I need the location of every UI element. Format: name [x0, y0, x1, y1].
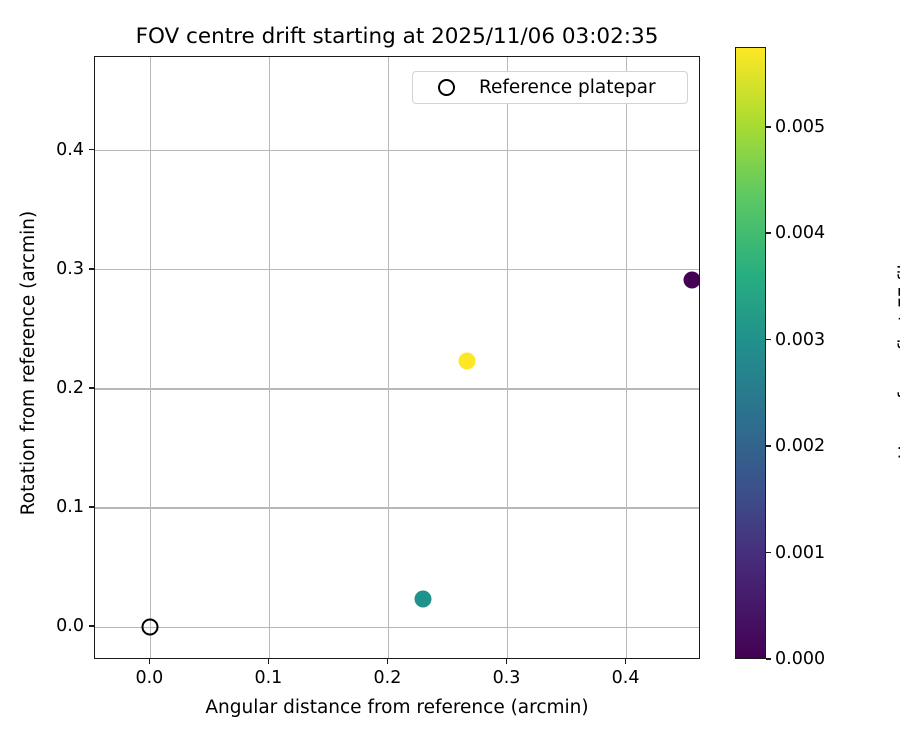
- colorbar-label: Hours from first FF file: [896, 50, 900, 662]
- gridline-horizontal: [95, 150, 699, 151]
- y-tick: [89, 387, 94, 389]
- data-point: [684, 272, 699, 289]
- colorbar-tick-label: 0.003: [775, 330, 825, 350]
- colorbar-tick: [766, 339, 771, 341]
- x-tick: [506, 659, 508, 664]
- x-tick: [625, 659, 627, 664]
- colorbar[interactable]: [735, 47, 766, 659]
- x-tick-label: 0.1: [233, 668, 303, 688]
- gridline-vertical: [507, 57, 508, 658]
- x-tick: [268, 659, 270, 664]
- gridline-vertical: [388, 57, 389, 658]
- data-point: [459, 353, 476, 370]
- open-circle-icon: [438, 79, 455, 96]
- page-title: FOV centre drift starting at 2025/11/06 …: [94, 24, 700, 49]
- colorbar-tick-label: 0.002: [775, 436, 825, 456]
- reference-platepar-marker: [142, 619, 159, 636]
- gridline-horizontal: [95, 627, 699, 628]
- x-tick-label: 0.2: [352, 668, 422, 688]
- gridline-horizontal: [95, 269, 699, 270]
- y-tick: [89, 149, 94, 151]
- x-tick: [387, 659, 389, 664]
- plot-inner: [95, 57, 699, 658]
- x-tick: [149, 659, 151, 664]
- colorbar-tick: [766, 232, 771, 234]
- colorbar-tick: [766, 552, 771, 554]
- colorbar-tick-label: 0.001: [775, 543, 825, 563]
- figure-canvas: FOV centre drift starting at 2025/11/06 …: [0, 0, 900, 750]
- y-tick: [89, 625, 94, 627]
- data-point: [415, 590, 432, 607]
- gridline-vertical: [269, 57, 270, 658]
- y-tick: [89, 506, 94, 508]
- y-axis-label: Rotation from reference (arcmin): [18, 60, 40, 666]
- x-tick-label: 0.4: [591, 668, 661, 688]
- colorbar-tick-label: 0.004: [775, 223, 825, 243]
- legend-box[interactable]: Reference platepar: [412, 71, 688, 104]
- x-tick-label: 0.0: [114, 668, 184, 688]
- colorbar-tick: [766, 445, 771, 447]
- colorbar-tick-label: 0.005: [775, 117, 825, 137]
- legend-label-reference-platepar: Reference platepar: [479, 77, 656, 98]
- gridline-horizontal: [95, 388, 699, 389]
- legend-marker-wrap: [413, 79, 479, 96]
- colorbar-tick: [766, 126, 771, 128]
- y-tick: [89, 268, 94, 270]
- colorbar-tick-label: 0.000: [775, 649, 825, 669]
- gridline-vertical: [150, 57, 151, 658]
- plot-axes: [94, 56, 700, 659]
- x-tick-label: 0.3: [472, 668, 542, 688]
- gridline-vertical: [626, 57, 627, 658]
- colorbar-tick: [766, 658, 771, 660]
- gridline-horizontal: [95, 507, 699, 508]
- x-axis-label: Angular distance from reference (arcmin): [94, 697, 700, 719]
